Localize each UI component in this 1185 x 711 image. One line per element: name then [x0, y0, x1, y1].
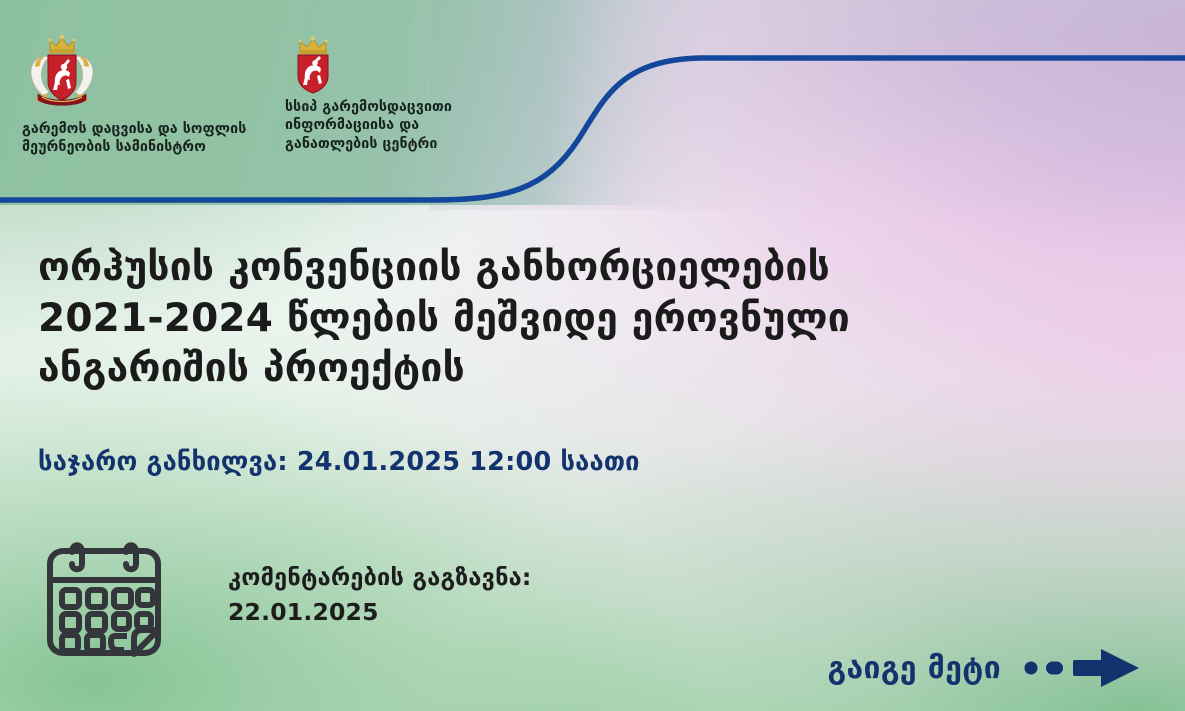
calendar-icon	[36, 530, 172, 662]
logo-eiec-caption-line2: ინფორმაციისა და	[285, 116, 490, 134]
public-discussion-line: საჯარო განხილვა: 24.01.2025 12:00 საათი	[38, 447, 640, 477]
comment-deadline-text: კომენტარების გაგზავნა: 22.01.2025	[228, 560, 531, 631]
logo-eiec-caption-line1: სსიპ გარემოსდაცვითი	[285, 98, 490, 116]
eiec-emblem-icon	[285, 36, 341, 94]
poster-title-line1: ორჰუსის კონვენციის განხორციელების	[38, 243, 998, 294]
poster-title: ორჰუსის კონვენციის განხორციელების 2021-2…	[38, 243, 998, 395]
poster-title-line3: ანგარიშის პროექტის	[38, 344, 998, 395]
poster-title-line2: 2021-2024 წლების მეშვიდე ეროვნული	[38, 294, 998, 345]
logo-eiec: სსიპ გარემოსდაცვითი ინფორმაციისა და განა…	[285, 36, 490, 153]
logo-ministry-caption: გარემოს დაცვისა და სოფლის მეურნეობის სამ…	[22, 120, 274, 157]
comment-deadline-date: 22.01.2025	[228, 595, 531, 630]
poster-canvas: გარემოს დაცვისა და სოფლის მეურნეობის სამ…	[0, 0, 1185, 711]
learn-more-cta[interactable]: გაიგე მეტი	[827, 647, 1145, 689]
logo-ministry-caption-line1: გარემოს დაცვისა და სოფლის	[22, 120, 274, 138]
learn-more-label: გაიგე მეტი	[827, 651, 1001, 686]
dotted-arrow-right-icon	[1023, 647, 1145, 689]
comment-deadline-label: კომენტარების გაგზავნა:	[228, 560, 531, 595]
logo-eiec-caption-line3: განათლების ცენტრი	[285, 135, 490, 153]
logo-ministry-of-environment: გარემოს დაცვისა და სოფლის მეურნეობის სამ…	[22, 34, 274, 157]
comment-deadline-block: კომენტარების გაგზავნა: 22.01.2025	[36, 530, 531, 662]
georgia-coat-of-arms-icon	[22, 34, 102, 112]
logo-ministry-caption-line2: მეურნეობის სამინისტრო	[22, 138, 274, 156]
logo-eiec-caption: სსიპ გარემოსდაცვითი ინფორმაციისა და განა…	[285, 98, 490, 153]
